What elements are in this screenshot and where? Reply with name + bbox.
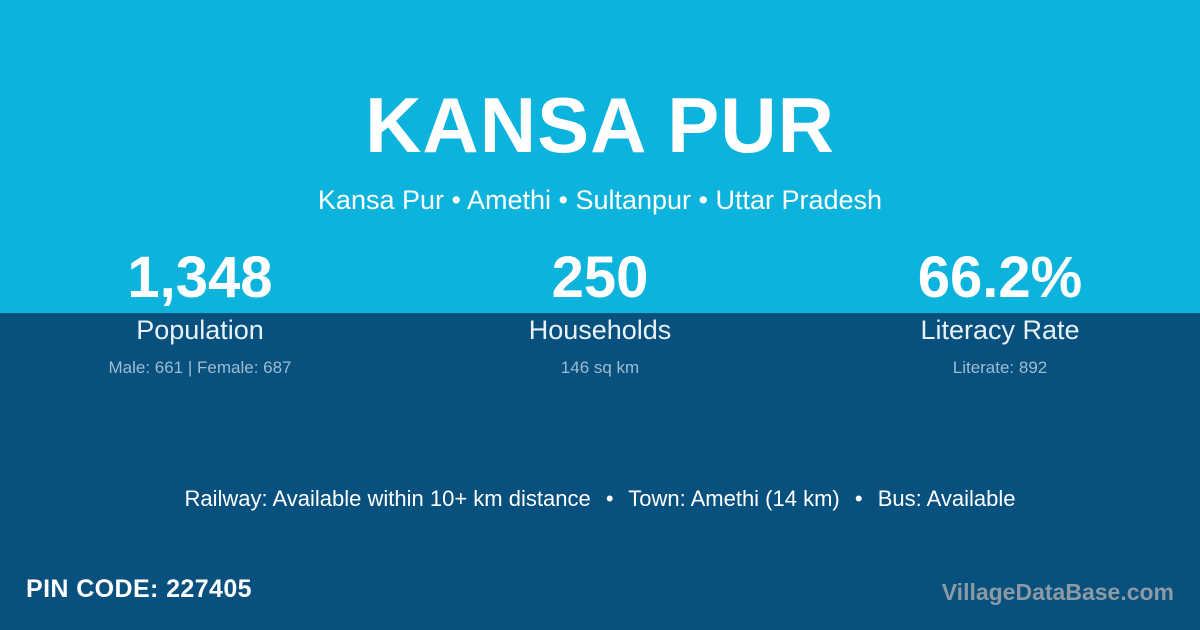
card-header: KANSA PUR Kansa Pur • Amethi • Sultanpur…: [0, 0, 1200, 216]
stat-population: 1,348 Population Male: 661 | Female: 687: [0, 243, 400, 380]
bullet-separator-icon: •: [597, 486, 623, 511]
amenity-town: Town: Amethi (14 km): [628, 486, 840, 511]
stat-literacy-rate: 66.2% Literacy Rate Literate: 892: [800, 243, 1200, 380]
amenities-line: Railway: Available within 10+ km distanc…: [0, 484, 1200, 514]
stat-label: Households: [400, 313, 800, 347]
stat-subtext: Male: 661 | Female: 687: [0, 356, 400, 380]
stat-label: Population: [0, 313, 400, 347]
amenity-bus: Bus: Available: [878, 486, 1016, 511]
stat-subtext: Literate: 892: [800, 356, 1200, 380]
stat-value: 1,348: [0, 243, 400, 313]
stat-value: 250: [400, 243, 800, 313]
amenity-railway: Railway: Available within 10+ km distanc…: [184, 486, 590, 511]
stat-subtext: 146 sq km: [400, 356, 800, 380]
stats-row: 1,348 Population Male: 661 | Female: 687…: [0, 243, 1200, 380]
stat-households: 250 Households 146 sq km: [400, 243, 800, 380]
site-brand-watermark: VillageDataBase.com: [942, 576, 1174, 608]
pin-code-label: PIN CODE: 227405: [26, 572, 252, 606]
card-footer: PIN CODE: 227405 VillageDataBase.com: [0, 572, 1200, 618]
page-title: KANSA PUR: [0, 0, 1200, 164]
bullet-separator-icon: •: [846, 486, 872, 511]
stat-value: 66.2%: [800, 243, 1200, 313]
village-info-card: KANSA PUR Kansa Pur • Amethi • Sultanpur…: [0, 0, 1200, 630]
stat-label: Literacy Rate: [800, 313, 1200, 347]
breadcrumb: Kansa Pur • Amethi • Sultanpur • Uttar P…: [0, 186, 1200, 216]
